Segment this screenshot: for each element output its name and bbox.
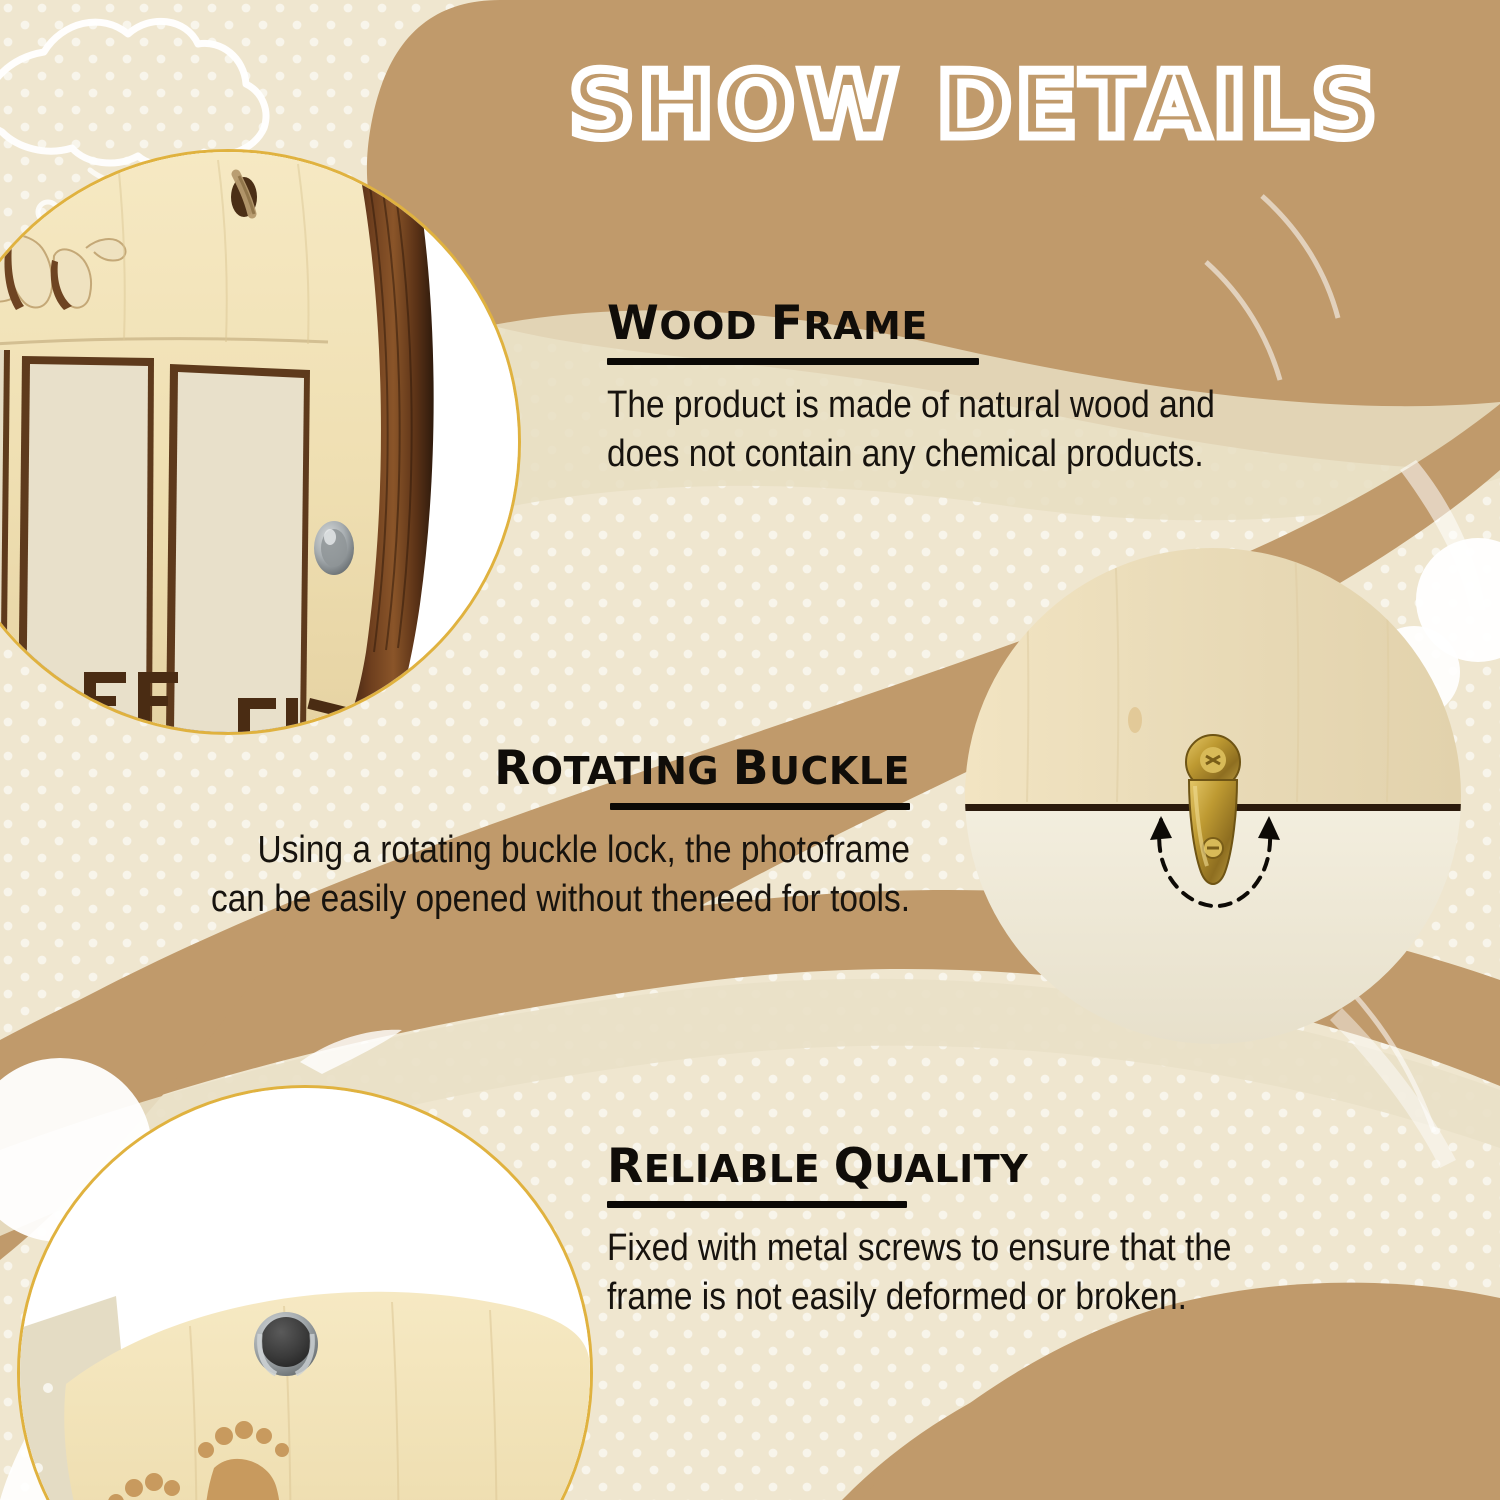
page-title-text: SHOW DETAILS <box>569 61 1380 151</box>
section-heading: WOOD FRAME <box>607 300 1397 347</box>
section-heading: ROTATING BUCKLE <box>80 745 910 792</box>
heading-underline <box>610 803 910 810</box>
heading-underline <box>607 1201 907 1208</box>
photo-reliable-quality-closeup <box>20 1088 590 1500</box>
photo-wood-frame-closeup <box>0 152 518 732</box>
section-heading: RELIABLE QUALITY <box>607 1143 1397 1190</box>
body-line: The product is made of natural wood and <box>607 381 1302 430</box>
body-line: does not contain any chemical products. <box>607 430 1302 479</box>
magnetic-snap <box>254 1312 318 1376</box>
rotating-buckle-illustration <box>965 548 1461 1044</box>
wood-frame-illustration <box>0 152 518 732</box>
section-reliable-quality: RELIABLE QUALITY Fixed with metal screws… <box>607 1143 1397 1323</box>
infographic-canvas: SHOW DETAILS <box>0 0 1500 1500</box>
section-body: The product is made of natural wood and … <box>607 381 1302 480</box>
body-line: frame is not easily deformed or broken. <box>607 1273 1302 1322</box>
section-body: Using a rotating buckle lock, the photof… <box>180 826 910 925</box>
body-line: Using a rotating buckle lock, the photof… <box>180 826 910 875</box>
section-body: Fixed with metal screws to ensure that t… <box>607 1224 1302 1323</box>
photo-rotating-buckle-closeup <box>965 548 1461 1044</box>
heading-underline <box>607 358 979 365</box>
metal-snap-button <box>314 521 354 575</box>
body-line: Fixed with metal screws to ensure that t… <box>607 1224 1302 1273</box>
body-line: can be easily opened without theneed for… <box>180 875 910 924</box>
section-rotating-buckle: ROTATING BUCKLE Using a rotating buckle … <box>80 745 910 925</box>
section-wood-frame: WOOD FRAME The product is made of natura… <box>607 300 1397 480</box>
reliable-quality-illustration <box>20 1088 590 1500</box>
page-title: SHOW DETAILS <box>470 52 1480 160</box>
